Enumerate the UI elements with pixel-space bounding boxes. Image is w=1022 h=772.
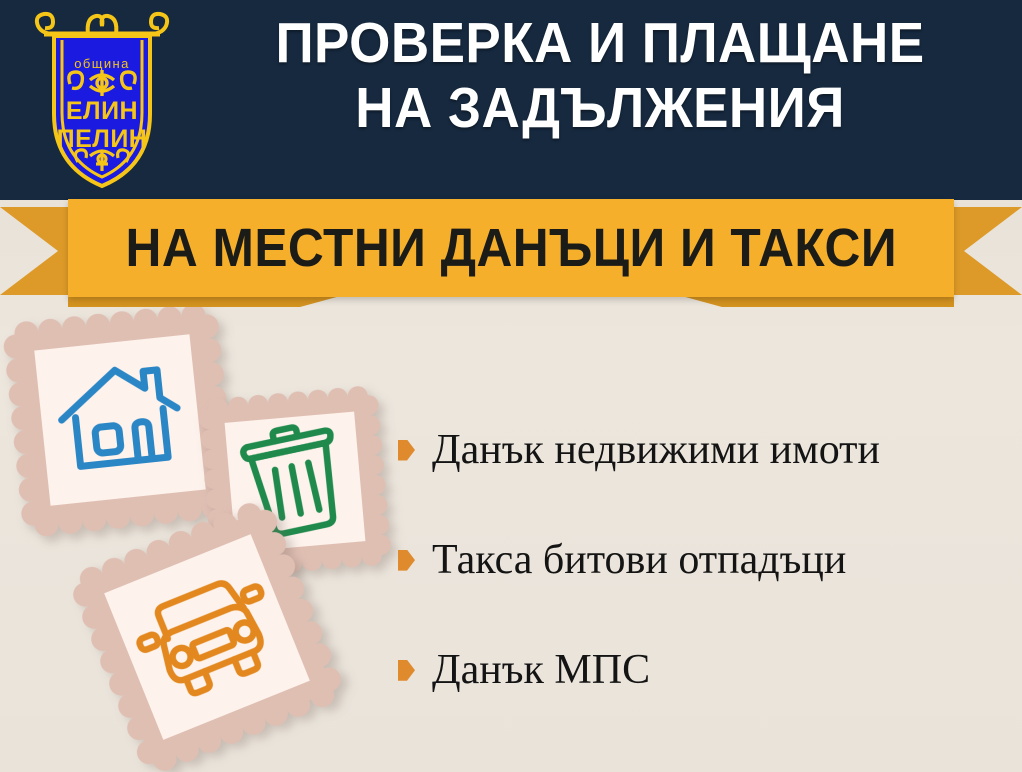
list-item-label: Данък недвижими имоти [432,428,880,472]
bullet-arrow-icon [398,440,415,461]
list-item[interactable]: Такса битови отпадъци [398,538,1008,582]
ribbon-label: НА МЕСТНИ ДАНЪЦИ И ТАКСИ [125,217,897,279]
list-item[interactable]: Данък недвижими имоти [398,428,1008,472]
poster-canvas: община ЕЛИН ПЕЛИН [0,0,1022,772]
municipality-logo: община ЕЛИН ПЕЛИН [22,6,182,192]
services-list: Данък недвижими имоти Такса битови отпад… [398,428,1008,758]
bullet-arrow-icon [398,660,415,681]
subtitle-ribbon: НА МЕСТНИ ДАНЪЦИ И ТАКСИ [0,199,1022,304]
svg-text:ЕЛИН: ЕЛИН [66,97,138,125]
bullet-arrow-icon [398,550,415,571]
title-line-1: ПРОВЕРКА И ПЛАЩАНЕ [219,16,982,71]
header-banner: община ЕЛИН ПЕЛИН [0,0,1022,200]
poster-title: ПРОВЕРКА И ПЛАЩАНЕ НА ЗАДЪЛЖЕНИЯ [190,16,1010,137]
svg-text:ПЕЛИН: ПЕЛИН [57,125,148,153]
title-line-2: НА ЗАДЪЛЖЕНИЯ [219,81,982,136]
list-item-label: Такса битови отпадъци [432,538,846,582]
svg-text:община: община [74,56,129,71]
list-item[interactable]: Данък МПС [398,648,1008,692]
ribbon-body: НА МЕСТНИ ДАНЪЦИ И ТАКСИ [68,199,954,297]
list-item-label: Данък МПС [432,648,650,692]
